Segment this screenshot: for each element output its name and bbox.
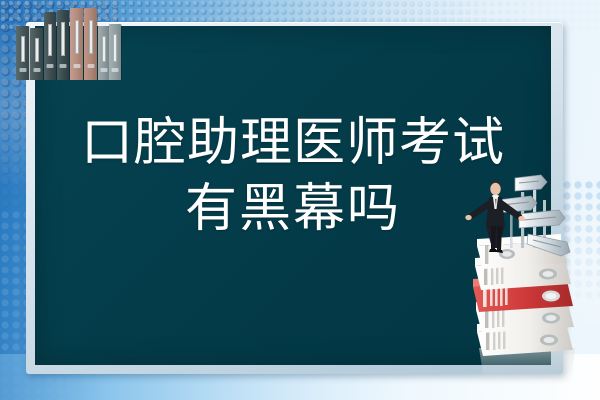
binder-icon <box>84 8 97 80</box>
binder-icon <box>30 28 43 80</box>
binder-ring-icon <box>87 64 94 68</box>
binder-ring-icon <box>33 68 40 72</box>
binder-icon <box>98 26 109 80</box>
binder-label <box>89 20 93 54</box>
binder-ring-icon <box>73 64 80 68</box>
binder-row <box>14 4 124 80</box>
binder-label <box>61 22 65 56</box>
binder-label <box>48 24 52 56</box>
businessman-on-folder-stack-illustration <box>455 170 600 400</box>
headline-line-1: 口腔助理医师考试 <box>35 110 551 176</box>
binder-icon <box>70 8 83 80</box>
binder-ring-icon <box>100 68 107 72</box>
binder-label <box>21 36 25 62</box>
binder-ring-icon <box>60 64 67 68</box>
binder-ring-icon <box>112 68 119 72</box>
binder-icon <box>57 10 69 80</box>
binder-label <box>35 38 39 62</box>
cover-image: 口腔助理医师考试 有黑幕吗 <box>0 0 600 400</box>
binder-ring-icon <box>47 64 54 68</box>
binder-label <box>102 36 106 62</box>
binder-label <box>113 34 117 62</box>
binder-icon <box>16 26 29 80</box>
binder-label <box>75 20 79 54</box>
signpost-arrow-icon <box>519 210 565 228</box>
binder-icon <box>109 24 121 80</box>
binder-ring-icon <box>19 68 26 72</box>
binder-icon <box>44 12 56 80</box>
signpost-arrow-icon <box>515 175 547 191</box>
